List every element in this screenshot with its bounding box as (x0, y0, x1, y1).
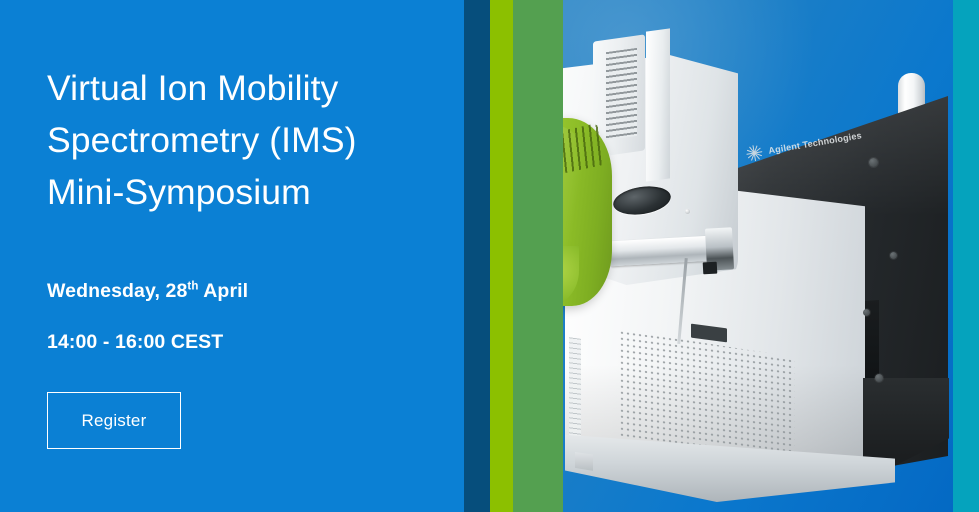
stripe-lime (490, 0, 513, 512)
event-date-ordinal: th (187, 281, 198, 293)
panel-fastener-icon (869, 158, 878, 167)
housing-upright (646, 28, 670, 181)
panel-fastener-icon (863, 309, 870, 316)
event-meta: Wednesday, 28th April 14:00 - 16:00 CEST (47, 266, 447, 368)
vent-slats (606, 48, 637, 140)
register-button[interactable]: Register (47, 392, 181, 449)
panel-fastener-icon (890, 252, 897, 259)
agilent-wordmark: Agilent Technologies (768, 130, 863, 155)
event-date: Wednesday, 28th April (47, 266, 447, 317)
agilent-starburst-icon (744, 143, 764, 163)
headline-line-1: Virtual Ion Mobility (47, 62, 447, 114)
webinar-promo-banner: Virtual Ion Mobility Spectrometry (IMS) … (0, 0, 979, 512)
left-text-panel: Virtual Ion Mobility Spectrometry (IMS) … (0, 0, 464, 512)
probe-stub (703, 262, 718, 275)
product-photo: Agilent Technologies (563, 0, 953, 512)
text-block: Virtual Ion Mobility Spectrometry (IMS) … (47, 62, 447, 368)
mass-spectrometer-illustration: Agilent Technologies (563, 0, 953, 512)
panel-fastener-icon (875, 374, 883, 382)
event-time: 14:00 - 16:00 CEST (47, 317, 447, 368)
housing-indicator-icon (685, 209, 690, 214)
event-date-month: April (198, 280, 248, 302)
stripe-navy (464, 0, 490, 512)
event-date-text: Wednesday, 28 (47, 280, 187, 302)
stripe-teal (953, 0, 979, 512)
page-title: Virtual Ion Mobility Spectrometry (IMS) … (47, 62, 447, 218)
headline-line-3: Mini-Symposium (47, 166, 447, 218)
stripe-green (513, 0, 563, 512)
headline-line-2: Spectrometry (IMS) (47, 114, 447, 166)
